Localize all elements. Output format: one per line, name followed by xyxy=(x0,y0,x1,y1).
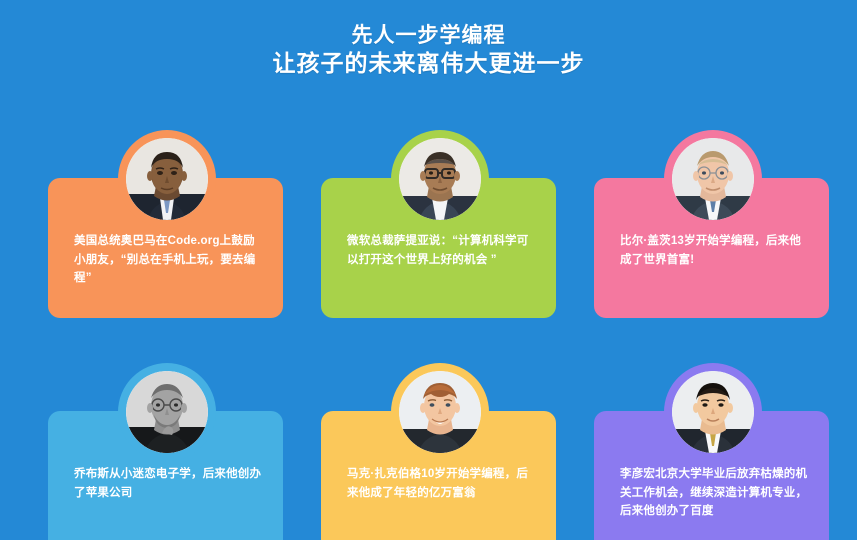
avatar-mark-zuckerberg xyxy=(391,363,489,461)
page-title: 先人一步学编程 让孩子的未来离伟大更进一步 xyxy=(0,22,857,79)
avatar-inner xyxy=(399,371,481,453)
avatar-photo-mark-zuckerberg xyxy=(399,371,481,453)
avatar-inner xyxy=(399,138,481,220)
quote-card-gates[interactable]: 比尔·盖茨13岁开始学编程，后来他成了世界首富! xyxy=(594,130,829,270)
card-row-bottom: 乔布斯从小迷恋电子学，后来他创办了苹果公司 xyxy=(0,363,857,540)
avatar-inner xyxy=(126,138,208,220)
quote-card-jobs[interactable]: 乔布斯从小迷恋电子学，后来他创办了苹果公司 xyxy=(48,363,283,503)
avatar-robin-li xyxy=(664,363,762,461)
quote-card-nadella[interactable]: 微软总裁萨提亚说：“计算机科学可以打开这个世界上好的机会 ” xyxy=(321,130,556,270)
avatar-inner xyxy=(672,138,754,220)
card-quote-text: 李彦宏北京大学毕业后放弃枯燥的机关工作机会，继续深造计算机专业，后来他创办了百度 xyxy=(620,465,810,521)
quote-card-obama[interactable]: 美国总统奥巴马在Code.org上鼓励小朋友，“别总在手机上玩，要去编程” xyxy=(48,130,283,270)
avatar-photo-robin-li xyxy=(672,371,754,453)
card-quote-text: 乔布斯从小迷恋电子学，后来他创办了苹果公司 xyxy=(74,465,264,502)
avatar-satya-nadella xyxy=(391,130,489,228)
card-quote-text: 马克·扎克伯格10岁开始学编程，后来他成了年轻的亿万富翁 xyxy=(347,465,537,502)
card-quote-text: 比尔·盖茨13岁开始学编程，后来他成了世界首富! xyxy=(620,232,810,269)
card-quote-text: 微软总裁萨提亚说：“计算机科学可以打开这个世界上好的机会 ” xyxy=(347,232,537,269)
avatar-obama xyxy=(118,130,216,228)
avatar-bill-gates xyxy=(664,130,762,228)
card-quote-text: 美国总统奥巴马在Code.org上鼓励小朋友，“别总在手机上玩，要去编程” xyxy=(74,232,264,288)
promo-banner: 先人一步学编程 让孩子的未来离伟大更进一步 美国总统奥巴马在Code.org上鼓… xyxy=(0,0,857,540)
avatar-photo-bill-gates xyxy=(672,138,754,220)
avatar-inner xyxy=(672,371,754,453)
avatar-photo-satya-nadella xyxy=(399,138,481,220)
headline-line-1: 先人一步学编程 xyxy=(0,22,857,49)
quote-card-grid: 美国总统奥巴马在Code.org上鼓励小朋友，“别总在手机上玩，要去编程” xyxy=(0,130,857,540)
avatar-photo-obama xyxy=(126,138,208,220)
card-row-top: 美国总统奥巴马在Code.org上鼓励小朋友，“别总在手机上玩，要去编程” xyxy=(0,130,857,340)
headline-line-2: 让孩子的未来离伟大更进一步 xyxy=(0,49,857,79)
quote-card-robinli[interactable]: 李彦宏北京大学毕业后放弃枯燥的机关工作机会，继续深造计算机专业，后来他创办了百度 xyxy=(594,363,829,503)
avatar-steve-jobs xyxy=(118,363,216,461)
avatar-inner xyxy=(126,371,208,453)
avatar-photo-steve-jobs xyxy=(126,371,208,453)
quote-card-zuckerberg[interactable]: 马克·扎克伯格10岁开始学编程，后来他成了年轻的亿万富翁 xyxy=(321,363,556,503)
